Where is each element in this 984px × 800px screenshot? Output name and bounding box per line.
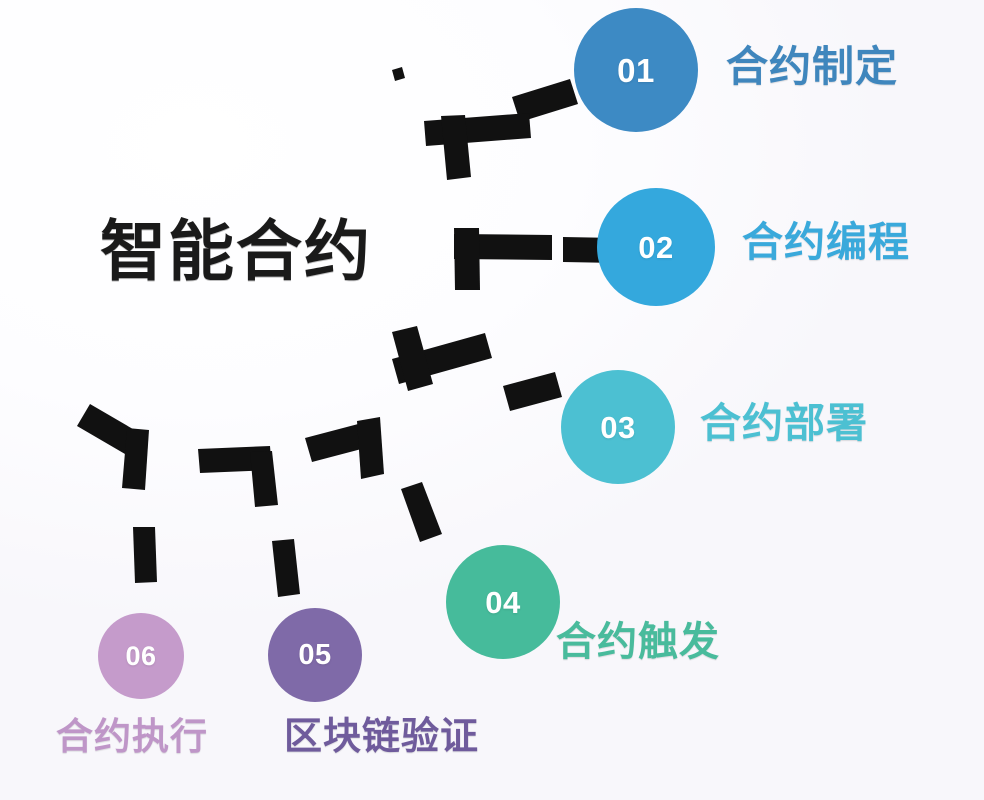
node-01-label: 合约制定 [726,46,898,88]
node-04-number: 04 [485,587,520,618]
connector-elbow-05-horizontal [198,446,272,473]
page-title: 智能合约 [100,198,372,294]
node-02-number: 02 [638,232,673,263]
connector-elbow-mid-diagonal [305,423,369,462]
node-04-label: 合约触发 [556,622,720,662]
node-01-number: 01 [617,54,655,87]
node-04-circle[interactable]: 04 [446,545,560,659]
connector-branch-03-horizontal [392,333,492,384]
connector-dash-01a [512,79,578,122]
connector-branch-03-vertical [392,326,433,391]
node-06-circle[interactable]: 06 [98,613,184,699]
node-03-circle[interactable]: 03 [561,370,675,484]
node-02-circle[interactable]: 02 [597,188,715,306]
node-05-circle[interactable]: 05 [268,608,362,702]
connector-branch-01-horizontal [424,113,531,146]
connector-branch-01-vertical [441,115,471,180]
node-06-label: 合约执行 [56,718,208,755]
node-05-label: 区块链验证 [284,718,479,756]
connector-dash-06b [133,527,157,583]
connector-dash-04a [401,482,442,542]
connector-elbow-06-diagonal [77,404,138,454]
connector-dash-03a [503,372,562,411]
connector-elbow-mid-vertical [357,417,384,479]
connector-dash-05b [272,539,300,597]
connector-dash-stray [392,67,405,81]
connector-branch-02-vertical [454,228,480,290]
node-03-label: 合约部署 [700,403,868,444]
node-05-number: 05 [298,641,331,670]
node-06-number: 06 [125,643,156,670]
node-02-label: 合约编程 [742,222,910,263]
node-01-circle[interactable]: 01 [574,8,698,132]
connector-elbow-06-vertical [122,428,149,490]
smart-contract-diagram: 智能合约 01 合约制定 02 合约编程 03 合约部署 04 合约触发 05 … [0,0,984,800]
connector-elbow-05-vertical [250,451,278,507]
connector-branch-02-horizontal [454,234,552,260]
node-03-number: 03 [600,412,635,443]
